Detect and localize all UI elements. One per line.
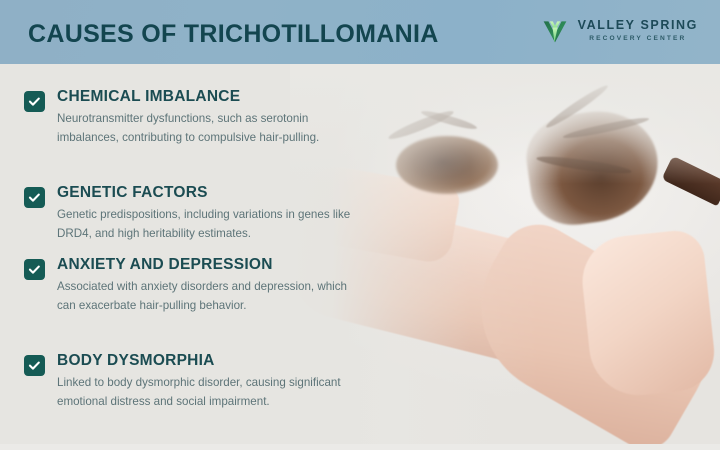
list-item: CHEMICAL IMBALANCE Neurotransmitter dysf… — [24, 88, 357, 148]
infographic-root: CAUSES OF TRICHOTILLOMANIA — [0, 0, 720, 450]
causes-list: CHEMICAL IMBALANCE Neurotransmitter dysf… — [0, 64, 400, 450]
cause-description: Linked to body dysmorphic disorder, caus… — [57, 374, 357, 412]
cause-title: BODY DYSMORPHIA — [57, 352, 357, 369]
list-item: BODY DYSMORPHIA Linked to body dysmorphi… — [24, 352, 357, 412]
logo-subtitle: RECOVERY CENTER — [578, 36, 698, 43]
cause-description: Genetic predispositions, including varia… — [57, 206, 357, 244]
checkbox-checked-icon — [24, 91, 45, 112]
valley-spring-v-mark-icon — [541, 17, 569, 45]
bottom-strip — [0, 444, 720, 450]
brand-logo: VALLEY SPRING RECOVERY CENTER — [541, 17, 698, 45]
list-item: ANXIETY AND DEPRESSION Associated with a… — [24, 256, 357, 316]
checkbox-checked-icon — [24, 355, 45, 376]
header-bar: CAUSES OF TRICHOTILLOMANIA — [0, 0, 720, 64]
cause-title: ANXIETY AND DEPRESSION — [57, 256, 357, 273]
list-item: GENETIC FACTORS Genetic predispositions,… — [24, 184, 357, 244]
logo-name: VALLEY SPRING — [578, 19, 698, 32]
checkbox-checked-icon — [24, 187, 45, 208]
cause-description: Associated with anxiety disorders and de… — [57, 278, 357, 316]
cause-title: CHEMICAL IMBALANCE — [57, 88, 357, 105]
cause-description: Neurotransmitter dysfunctions, such as s… — [57, 110, 357, 148]
page-title: CAUSES OF TRICHOTILLOMANIA — [28, 20, 439, 49]
checkbox-checked-icon — [24, 259, 45, 280]
cause-title: GENETIC FACTORS — [57, 184, 357, 201]
